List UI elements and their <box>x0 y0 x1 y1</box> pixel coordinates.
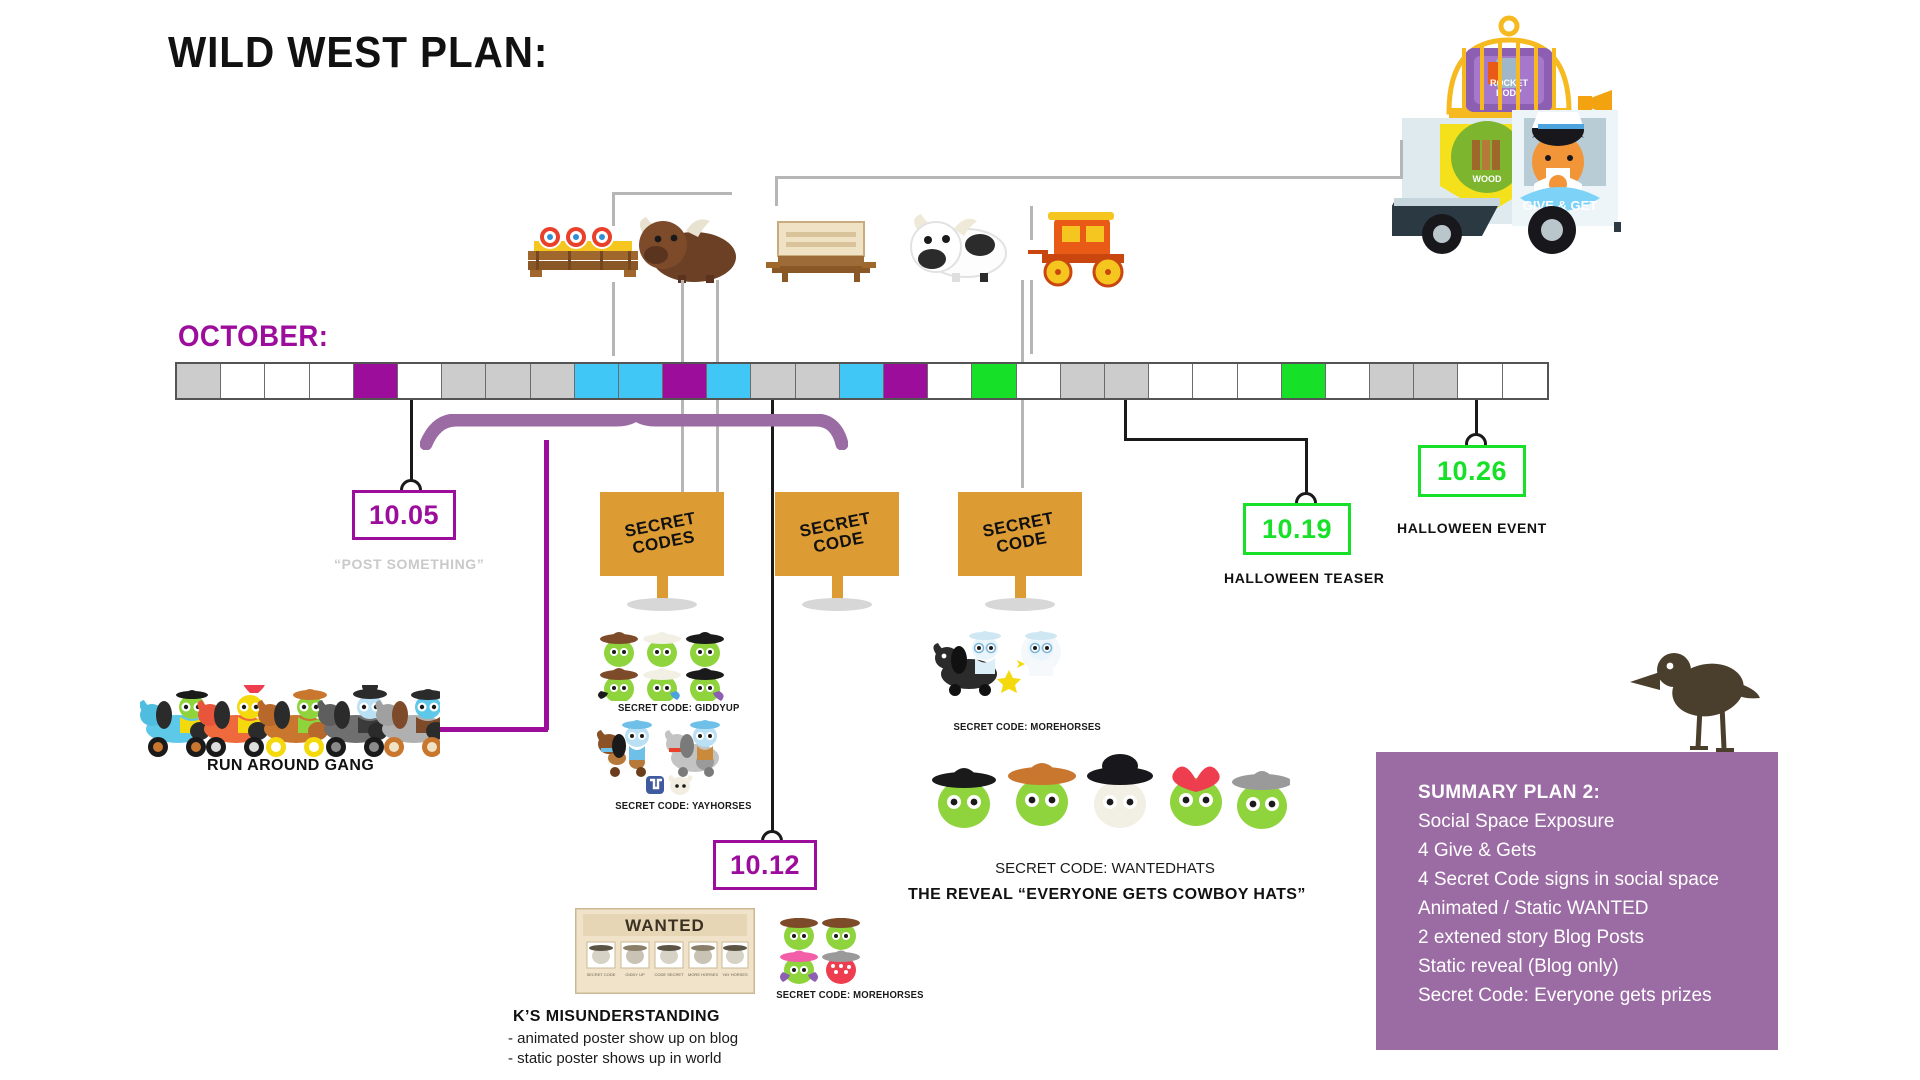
connector-coach-h <box>1030 206 1033 240</box>
calendar-cell-30[interactable] <box>1458 364 1502 398</box>
calendar-cell-25[interactable] <box>1238 364 1282 398</box>
sign-board: SECRET CODES <box>600 492 724 576</box>
sign-text-block: SECRET CODE <box>951 481 1089 587</box>
wanted-poster-title: WANTED <box>625 916 705 935</box>
badge-1026-text: 10.26 <box>1437 456 1507 487</box>
drop-line-1005 <box>410 400 413 490</box>
sign-text-block: SECRET CODE <box>768 481 906 587</box>
calendar-cell-10[interactable] <box>575 364 619 398</box>
caption-secret-code-wantedhats: SECRET CODE: WANTEDHATS <box>975 860 1235 877</box>
summary-line: Social Space Exposure <box>1418 807 1778 836</box>
calendar-cell-4[interactable] <box>310 364 354 398</box>
badge-1026-caption: HALLOWEEN EVENT <box>1397 520 1547 536</box>
connector-cart-horizontal <box>775 176 1403 179</box>
sign-text-block: SECRET CODES <box>593 481 731 587</box>
calendar-cell-31[interactable] <box>1503 364 1547 398</box>
calendar-cell-15[interactable] <box>796 364 840 398</box>
caption-ks-misunderstanding: K’S MISUNDERSTANDING <box>513 1008 720 1026</box>
wagon-of-faces-icon <box>528 215 638 280</box>
summary-line: Secret Code: Everyone gets prizes <box>1418 981 1778 1010</box>
summary-line: 4 Secret Code signs in social space <box>1418 865 1778 894</box>
sign-shadow <box>985 598 1055 611</box>
svg-text:GIDDY UP: GIDDY UP <box>625 972 645 977</box>
caption-secret-code-yayhorses: SECRET CODE: YAYHORSES <box>615 801 739 812</box>
calendar-cell-24[interactable] <box>1193 364 1237 398</box>
brace-stem-horizontal <box>440 727 548 732</box>
calendar-cell-21[interactable] <box>1061 364 1105 398</box>
calendar-cell-27[interactable] <box>1326 364 1370 398</box>
badge-1005[interactable]: 10.05 <box>352 490 456 540</box>
drop-line-1019-v <box>1124 400 1127 440</box>
cowboy-hat-heads-row-icon <box>920 752 1290 832</box>
calendar-cell-12[interactable] <box>663 364 707 398</box>
caption-ks-bullet-1: - animated poster show up on blog <box>508 1030 738 1047</box>
connector-wagon-h2 <box>612 192 732 195</box>
svg-text:CODE SECRET: CODE SECRET <box>655 972 684 977</box>
small-pair-icons <box>644 772 694 798</box>
calendar-cell-20[interactable] <box>1017 364 1061 398</box>
svg-text:YAY HORSES: YAY HORSES <box>722 972 748 977</box>
drop-line-1019-d <box>1305 438 1308 500</box>
bottom-hat-faces-icon <box>775 918 895 988</box>
sign-board: SECRET CODE <box>958 492 1082 576</box>
calendar-cell-8[interactable] <box>486 364 530 398</box>
summary-line: 2 extened story Blog Posts <box>1418 923 1778 952</box>
summary-line: Animated / Static WANTED <box>1418 894 1778 923</box>
calendar-cell-9[interactable] <box>531 364 575 398</box>
connector-cart-down <box>775 176 778 206</box>
caption-secret-code-morehorses-mid: SECRET CODE: MOREHORSES <box>954 722 1087 733</box>
month-label: OCTOBER: <box>178 320 328 354</box>
ghost-riders-icon <box>933 630 1073 702</box>
connector-wagon-h1 <box>612 192 615 226</box>
summary-line: Static reveal (Blog only) <box>1418 952 1778 981</box>
sign-shadow <box>627 598 697 611</box>
summary-panel: SUMMARY PLAN 2: Social Space Exposure 4 … <box>1376 752 1778 1050</box>
calendar-cell-3[interactable] <box>265 364 309 398</box>
secret-codes-sign-1[interactable]: SECRET CODES <box>600 492 724 611</box>
slide-canvas: WILD WEST PLAN: <box>0 0 1920 1080</box>
svg-text:SECRET CODE: SECRET CODE <box>587 972 616 977</box>
summary-line: 4 Give & Gets <box>1418 836 1778 865</box>
cowboy-faces-grid-icon <box>597 625 727 701</box>
caption-the-reveal: THE REVEAL “EVERYONE GETS COWBOY HATS” <box>908 886 1298 904</box>
calendar-cell-16[interactable] <box>840 364 884 398</box>
purple-brace <box>420 414 848 450</box>
sign-board: SECRET CODE <box>775 492 899 576</box>
calendar-cell-22[interactable] <box>1105 364 1149 398</box>
calendar-cell-2[interactable] <box>221 364 265 398</box>
sign-shadow <box>802 598 872 611</box>
badge-1019-text: 10.19 <box>1262 514 1332 545</box>
give-and-get-cart-icon: ROCKET BODY WOOD GIVE & GET <box>1392 12 1632 262</box>
badge-1012[interactable]: 10.12 <box>713 840 817 890</box>
caption-ks-bullet-2: - static poster shows up in world <box>508 1050 721 1067</box>
calendar-cell-17[interactable] <box>884 364 928 398</box>
calendar-cell-26[interactable] <box>1282 364 1326 398</box>
summary-title: SUMMARY PLAN 2: <box>1418 782 1778 804</box>
connector-coach-v1 <box>1030 280 1033 354</box>
calendar-cell-28[interactable] <box>1370 364 1414 398</box>
calendar-strip[interactable] <box>175 362 1549 400</box>
calendar-cell-11[interactable] <box>619 364 663 398</box>
calendar-cell-1[interactable] <box>177 364 221 398</box>
badge-1005-caption: “POST SOMETHING” <box>334 556 484 572</box>
secret-code-sign-3[interactable]: SECRET CODE <box>958 492 1082 611</box>
badge-1005-text: 10.05 <box>369 500 439 531</box>
svg-text:MORE HORSES: MORE HORSES <box>688 972 718 977</box>
calendar-cell-5[interactable] <box>354 364 398 398</box>
horse-riders-icon <box>597 718 727 780</box>
bird-icon <box>1630 648 1762 758</box>
cart-cage-label-1: ROCKET <box>1490 78 1529 88</box>
badge-1019-caption: HALLOWEEN TEASER <box>1224 570 1385 586</box>
stagecoach-icon <box>1028 210 1138 288</box>
calendar-cell-14[interactable] <box>751 364 795 398</box>
calendar-cell-18[interactable] <box>928 364 972 398</box>
page-title: WILD WEST PLAN: <box>168 28 548 78</box>
drop-line-1012 <box>771 400 774 840</box>
calendar-cell-19[interactable] <box>972 364 1016 398</box>
secret-code-sign-2[interactable]: SECRET CODE <box>775 492 899 611</box>
calendar-cell-29[interactable] <box>1414 364 1458 398</box>
badge-1012-text: 10.12 <box>730 850 800 881</box>
calendar-cell-13[interactable] <box>707 364 751 398</box>
brace-stem-vertical <box>544 440 549 730</box>
caption-secret-code-morehorses-bottom: SECRET CODE: MOREHORSES <box>776 990 900 1001</box>
calendar-cell-6[interactable] <box>398 364 442 398</box>
calendar-cell-7[interactable] <box>442 364 486 398</box>
run-around-gang-icon <box>140 685 440 765</box>
bull-icon <box>630 205 740 283</box>
connector-cart-vertical <box>1400 140 1403 179</box>
badge-1026[interactable]: 10.26 <box>1418 445 1526 497</box>
drop-line-1019-h <box>1124 438 1307 441</box>
caption-secret-code-giddyup: SECRET CODE: GIDDYUP <box>618 703 732 714</box>
caption-run-around-gang: RUN AROUND GANG <box>207 757 374 775</box>
connector-wagon-v1 <box>612 282 615 356</box>
piano-wagon-icon <box>762 218 880 283</box>
calendar-cell-23[interactable] <box>1149 364 1193 398</box>
wanted-poster-icon: WANTED SECRET CODE GIDDY UP CODE SECRET … <box>575 908 755 994</box>
cow-icon <box>900 205 1010 283</box>
badge-1019[interactable]: 10.19 <box>1243 503 1351 555</box>
cart-wood-badge-label: WOOD <box>1473 174 1502 184</box>
